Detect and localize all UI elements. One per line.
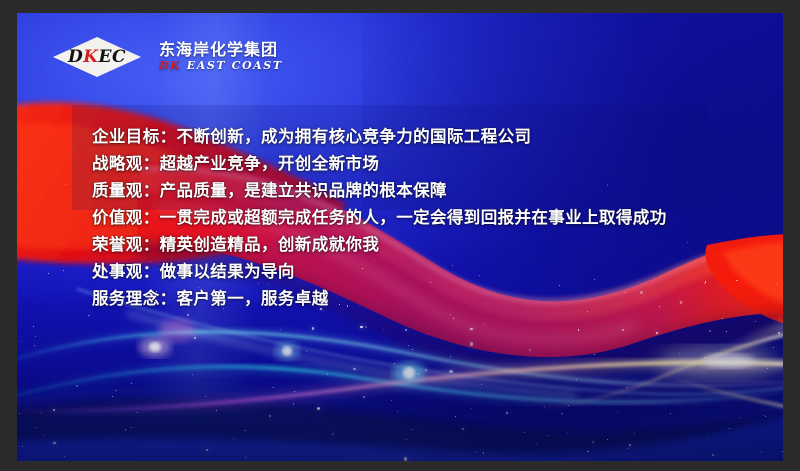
star-particle — [124, 437, 125, 438]
company-name-block: 东海岸化学集团 DK EAST COAST — [159, 41, 283, 73]
star-particle — [568, 405, 569, 406]
star-particle — [536, 443, 537, 444]
star-particle — [773, 347, 774, 348]
star-particle — [628, 448, 629, 449]
star-particle — [115, 390, 116, 391]
company-name-english: DK EAST COAST — [159, 60, 283, 73]
star-particle — [53, 409, 55, 411]
star-particle — [483, 452, 484, 453]
company-name-english-rest: EAST COAST — [181, 59, 282, 72]
star-particle — [561, 413, 562, 414]
star-particle — [529, 349, 531, 351]
star-particle — [679, 353, 680, 354]
star-particle — [33, 326, 34, 327]
value-statement-line: 企业目标：不断创新，成为拥有核心竞争力的国际工程公司 — [92, 123, 772, 150]
star-particle — [317, 408, 318, 409]
company-name-chinese: 东海岸化学集团 — [159, 41, 283, 59]
star-particle — [233, 438, 234, 439]
star-particle — [670, 413, 671, 414]
star-particle — [317, 407, 320, 410]
presentation-slide: DKEC 东海岸化学集团 DK EAST COAST 企业目标：不断创新，成为拥… — [17, 13, 783, 461]
star-particle — [722, 318, 723, 319]
star-particle — [524, 432, 525, 433]
star-particle — [544, 406, 545, 407]
dkec-logo-icon: DKEC — [53, 37, 141, 77]
star-particle — [576, 379, 577, 380]
logo-letter-d: D — [68, 49, 83, 66]
star-particle — [471, 408, 472, 409]
value-statement-line: 质量观：产品质量，是建立共识品牌的根本保障 — [92, 177, 772, 204]
star-particle — [88, 315, 89, 316]
star-particle — [63, 270, 64, 271]
star-particle — [306, 351, 307, 352]
star-particle — [44, 435, 45, 436]
value-statement-line: 荣誉观：精英创造精品，创新成就你我 — [92, 231, 772, 258]
star-particle — [394, 363, 395, 364]
star-particle — [272, 387, 273, 388]
star-particle — [76, 385, 77, 386]
star-particle — [726, 331, 727, 332]
star-particle — [310, 393, 311, 394]
value-statement-line: 战略观：超越产业竞争，开创全新市场 — [92, 150, 772, 177]
star-particle — [417, 373, 419, 375]
star-particle — [206, 449, 208, 451]
star-particle — [245, 457, 246, 458]
star-particle — [473, 428, 474, 429]
company-name-english-accent: DK — [159, 59, 181, 72]
star-particle — [406, 439, 407, 440]
star-particle — [280, 329, 281, 330]
star-particle — [778, 332, 780, 334]
slide-outer-frame: DKEC 东海岸化学集团 DK EAST COAST 企业目标：不断创新，成为拥… — [0, 0, 800, 471]
star-particle — [383, 329, 384, 330]
star-particle — [656, 332, 658, 334]
star-particle — [131, 427, 132, 428]
star-particle — [404, 457, 407, 460]
star-particle — [453, 318, 454, 319]
star-particle — [481, 384, 482, 385]
star-particle — [269, 415, 271, 417]
star-particle — [767, 368, 768, 369]
star-particle — [463, 454, 464, 455]
star-particle — [53, 442, 55, 444]
star-particle — [216, 410, 217, 411]
star-particle — [712, 454, 714, 456]
star-particle — [755, 321, 756, 322]
star-particle — [470, 328, 472, 330]
star-particle — [391, 400, 392, 401]
star-particle — [607, 439, 608, 440]
star-particle — [137, 412, 138, 413]
star-particle — [19, 413, 20, 414]
star-particle — [594, 354, 595, 355]
star-particle — [41, 412, 42, 413]
star-particle — [294, 391, 295, 392]
star-particle — [506, 412, 508, 414]
star-particle — [776, 284, 777, 285]
star-particle — [634, 433, 635, 434]
star-particle — [131, 383, 132, 384]
star-particle — [779, 318, 780, 319]
star-particle — [708, 437, 709, 438]
value-statement-line: 服务理念：客户第一，服务卓越 — [92, 285, 772, 312]
value-statement-line: 处事观：做事以结果为导向 — [92, 258, 772, 285]
star-particle — [412, 349, 413, 350]
star-particle — [709, 330, 711, 332]
logo-letter-ec: EC — [99, 49, 127, 66]
slide-header: DKEC 东海岸化学集团 DK EAST COAST — [53, 37, 283, 77]
star-particle — [450, 356, 451, 357]
star-particle — [427, 334, 428, 335]
star-particle — [763, 415, 764, 416]
star-particle — [547, 435, 548, 436]
star-particle — [22, 446, 23, 447]
star-particle — [194, 337, 196, 339]
logo-wordmark: DKEC — [53, 37, 141, 77]
star-particle — [35, 427, 36, 428]
star-particle — [125, 429, 126, 430]
star-particle — [475, 451, 476, 452]
corporate-values-list: 企业目标：不断创新，成为拥有核心竞争力的国际工程公司战略观：超越产业竞争，开创全… — [92, 123, 772, 312]
star-particle — [187, 314, 189, 316]
star-particle — [182, 402, 183, 403]
star-particle — [48, 273, 49, 274]
star-particle — [35, 336, 36, 337]
star-particle — [353, 368, 355, 370]
star-particle — [365, 326, 367, 328]
star-particle — [65, 184, 66, 185]
star-particle — [740, 417, 741, 418]
value-statement-line: 价值观：一贯完成或超额完成任务的人，一定会得到回报并在事业上取得成功 — [92, 204, 772, 231]
star-particle — [592, 441, 594, 443]
star-particle — [349, 389, 350, 390]
star-particle — [617, 412, 618, 413]
star-particle — [397, 411, 398, 412]
star-particle — [704, 357, 705, 358]
star-particle — [462, 428, 464, 430]
star-particle — [21, 341, 22, 342]
star-particle — [634, 456, 635, 457]
star-particle — [629, 444, 631, 446]
star-particle — [470, 342, 473, 345]
star-particle — [484, 324, 485, 325]
star-particle — [455, 416, 456, 417]
star-particle — [64, 456, 65, 457]
star-particle — [112, 396, 113, 397]
star-particle — [627, 387, 628, 388]
star-particle — [34, 345, 35, 346]
star-particle — [312, 327, 314, 329]
star-particle — [408, 345, 409, 346]
star-particle — [45, 253, 46, 254]
star-particle — [363, 396, 365, 398]
star-particle — [782, 451, 783, 452]
star-particle — [205, 396, 206, 397]
star-particle — [360, 326, 362, 328]
star-particle — [411, 429, 412, 430]
star-particle — [567, 432, 568, 433]
star-particle — [192, 374, 193, 375]
star-particle — [450, 314, 451, 315]
star-particle — [405, 329, 407, 331]
star-particle — [449, 370, 452, 373]
star-particle — [293, 403, 294, 404]
star-particle — [332, 433, 334, 435]
star-particle — [587, 451, 588, 452]
logo-letter-k: K — [83, 49, 98, 66]
star-particle — [327, 374, 328, 375]
star-particle — [729, 428, 730, 429]
star-particle — [622, 329, 624, 331]
star-particle — [761, 451, 762, 452]
star-particle — [578, 329, 579, 330]
star-particle — [244, 430, 245, 431]
star-particle — [425, 369, 427, 371]
star-particle — [765, 416, 766, 417]
